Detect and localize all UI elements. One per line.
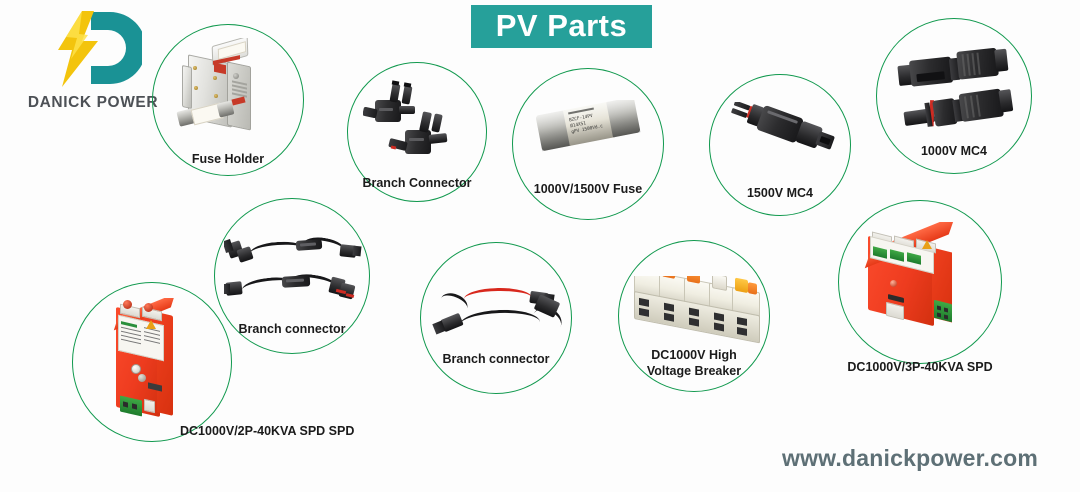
product-card-mc4-1500v[interactable]: 1500V MC4 <box>709 74 851 216</box>
product-card-branch-connector-1[interactable]: Branch Connector <box>347 62 487 202</box>
product-card-mc4-1000v[interactable]: 1000V MC4 <box>876 18 1032 174</box>
poster-canvas: DANICK POWER PV Parts <box>0 0 1080 492</box>
product-image-mc4-1000v <box>894 34 1018 140</box>
product-card-pv-fuse[interactable]: BZCF-14PV Ø14X51 gPV 1500Vd.c 1000V/1500… <box>512 86 664 203</box>
page-title-badge: PV Parts <box>471 5 652 48</box>
product-card-branch-connector-2[interactable]: Branch connector <box>214 198 370 354</box>
product-image-breaker <box>632 276 760 344</box>
product-label-branch-connector-3: Branch connector <box>402 352 590 368</box>
product-image-spd-3p <box>860 222 986 334</box>
product-label-spd-3p: DC1000V/3P-40KVA SPD <box>828 360 1012 376</box>
product-label-mc4-1500v: 1500V MC4 <box>701 186 859 202</box>
page-title: PV Parts <box>496 10 628 43</box>
product-image-fuse-holder <box>172 38 284 150</box>
product-card-fuse-holder[interactable]: Fuse Holder <box>152 24 304 176</box>
product-card-branch-connector-3[interactable]: Branch connector <box>414 262 578 380</box>
brand-name: DANICK POWER <box>18 94 168 112</box>
lightning-bolt-d-logo-icon <box>36 10 142 88</box>
product-label-mc4-1000v: 1000V MC4 <box>872 144 1036 160</box>
product-image-pv-fuse: BZCF-14PV Ø14X51 gPV 1500Vd.c <box>532 100 648 170</box>
product-image-branch-connector-3 <box>426 272 574 348</box>
product-image-branch-connector-1 <box>363 78 473 176</box>
product-label-spd-2p: DC1000V/2P-40KVA SPD SPD <box>180 424 360 440</box>
product-card-spd-2p[interactable]: DC1000V/2P-40KVA SPD SPD <box>72 282 232 442</box>
product-label-breaker: DC1000V High Voltage Breaker <box>602 348 786 379</box>
product-image-spd-2p <box>104 298 204 430</box>
product-image-mc4-1500v <box>723 102 839 170</box>
product-label-fuse-holder: Fuse Holder <box>146 152 310 168</box>
product-card-breaker[interactable]: DC1000V High Voltage Breaker <box>616 262 772 392</box>
product-label-branch-connector-1: Branch Connector <box>333 176 501 192</box>
product-label-pv-fuse: 1000V/1500V Fuse <box>502 182 674 198</box>
product-image-branch-connector-2 <box>224 220 364 316</box>
product-card-spd-3p[interactable]: DC1000V/3P-40KVA SPD <box>838 200 1002 364</box>
product-label-branch-connector-2: Branch connector <box>198 322 386 338</box>
website-url[interactable]: www.danickpower.com <box>782 445 1038 472</box>
